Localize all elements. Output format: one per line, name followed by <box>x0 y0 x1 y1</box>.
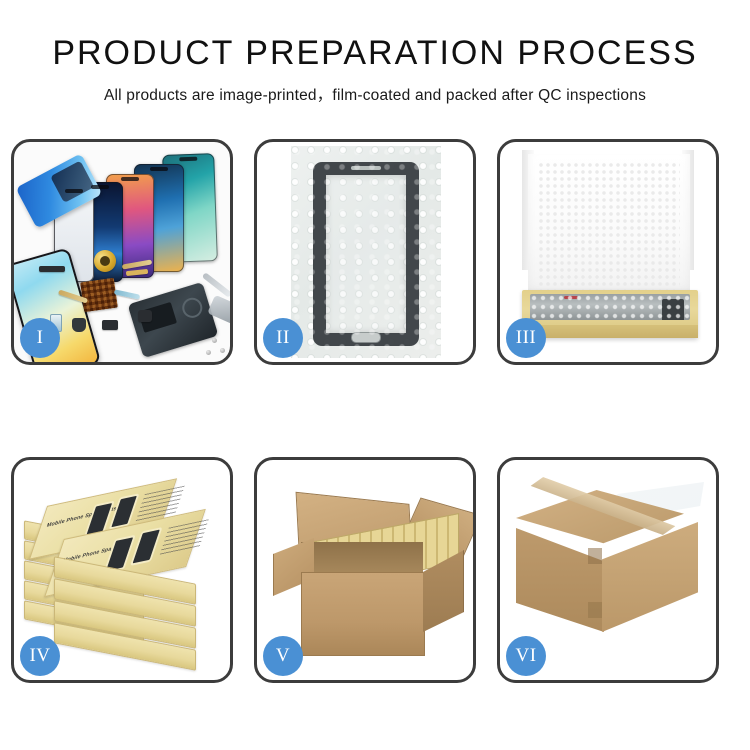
notch-icon <box>179 157 197 162</box>
notch-icon <box>91 185 109 189</box>
step-badge-4: IV <box>20 636 60 676</box>
step-badge-1: I <box>20 318 60 358</box>
box-phone-graphic <box>133 530 160 564</box>
carton-inner-wall <box>301 542 423 576</box>
screw-part <box>220 348 225 353</box>
step-badge-3: III <box>506 318 546 358</box>
carton-front-face <box>301 572 425 656</box>
step-badge-2: II <box>263 318 303 358</box>
camera-module-part <box>138 310 152 322</box>
sealed-carton <box>516 484 708 662</box>
notch-icon <box>150 167 168 171</box>
product-preparation-infographic: PRODUCT PREPARATION PROCESS All products… <box>0 0 750 750</box>
screw-part <box>206 350 211 355</box>
steps-grid: I II <box>11 139 739 683</box>
white-foam-liner <box>528 154 690 296</box>
carton-right-face <box>602 522 698 632</box>
carton-notch <box>588 548 602 564</box>
flex-cable-part <box>114 289 140 299</box>
step-badge-6: VI <box>506 636 546 676</box>
header: PRODUCT PREPARATION PROCESS All products… <box>0 0 750 105</box>
box-spec-lines <box>159 519 208 556</box>
gold-coil-part <box>94 250 116 272</box>
page-subtitle: All products are image-printed，film-coat… <box>0 73 750 105</box>
step-panel-1: I <box>11 139 233 365</box>
bubble-wrap-photo <box>291 146 441 358</box>
button-cap-part <box>72 318 86 332</box>
earpiece-slot <box>351 166 381 170</box>
label-mark <box>564 296 578 299</box>
step-badge-5: V <box>263 636 303 676</box>
step-panel-2: II <box>254 139 476 365</box>
step-panel-5: V <box>254 457 476 683</box>
step-panel-3: III <box>497 139 719 365</box>
carton-notch <box>588 602 602 618</box>
wrapped-screen-in-box <box>530 294 690 320</box>
box-front-lip <box>522 325 698 338</box>
open-carton <box>271 486 463 662</box>
box-stack: Mobile Phone Spare Parts Mobile Phone Sp… <box>20 474 226 664</box>
inner-kraft-box <box>522 290 698 338</box>
screw-part <box>212 338 217 343</box>
connector-grid-part <box>80 278 118 312</box>
box-phone-graphic <box>106 537 133 571</box>
small-part <box>102 320 118 330</box>
notch-icon <box>121 177 139 181</box>
step-panel-6: VI <box>497 457 719 683</box>
speaker-part <box>39 266 65 272</box>
screen-dark-end <box>662 299 684 320</box>
notch-icon <box>65 189 83 193</box>
page-title: PRODUCT PREPARATION PROCESS <box>0 0 750 73</box>
screen-glass-frame <box>313 162 419 346</box>
step-panel-4: Mobile Phone Spare Parts Mobile Phone Sp… <box>11 457 233 683</box>
